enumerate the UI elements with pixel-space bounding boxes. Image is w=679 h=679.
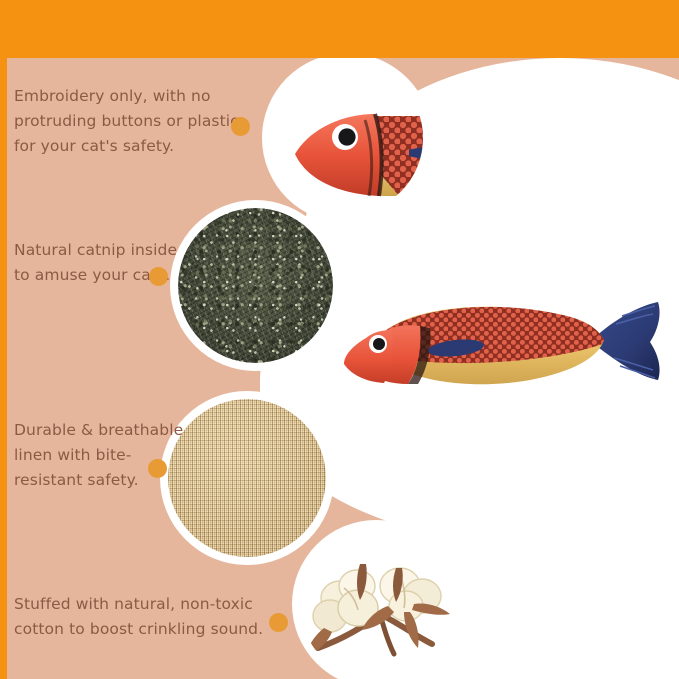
- bullet-dot-embroidery: [231, 117, 250, 136]
- fish-head-closeup-svg: [279, 100, 423, 198]
- fish-toy-image: [322, 286, 668, 398]
- feature-text-embroidery: Embroidery only, with no protruding butt…: [14, 84, 254, 159]
- linen-texture: [168, 399, 326, 557]
- catnip-texture: [178, 208, 333, 363]
- product-feature-infographic: Embroidery only, with no protruding butt…: [0, 0, 679, 679]
- bullet-dot-catnip: [149, 267, 168, 286]
- feature-text-linen: Durable & breathable linen with bite-res…: [14, 418, 184, 493]
- badge-fish-head-closeup: [271, 62, 423, 214]
- fish-eye: [369, 335, 387, 353]
- left-accent-stripe: [0, 58, 7, 679]
- bullet-dot-cotton: [269, 613, 288, 632]
- fish-toy-svg: [322, 286, 668, 398]
- cotton-bolls-svg: [300, 528, 452, 679]
- badge-linen-swatch: [168, 399, 326, 557]
- badge-cotton-illustration: [300, 528, 452, 679]
- feature-text-cotton: Stuffed with natural, non-toxic cotton t…: [14, 592, 276, 642]
- fish-tail: [594, 302, 660, 380]
- badge-clip-fish-head: [271, 62, 423, 214]
- bullet-dot-linen: [148, 459, 167, 478]
- header-band: [0, 0, 679, 58]
- badge-catnip-swatch: [178, 208, 333, 363]
